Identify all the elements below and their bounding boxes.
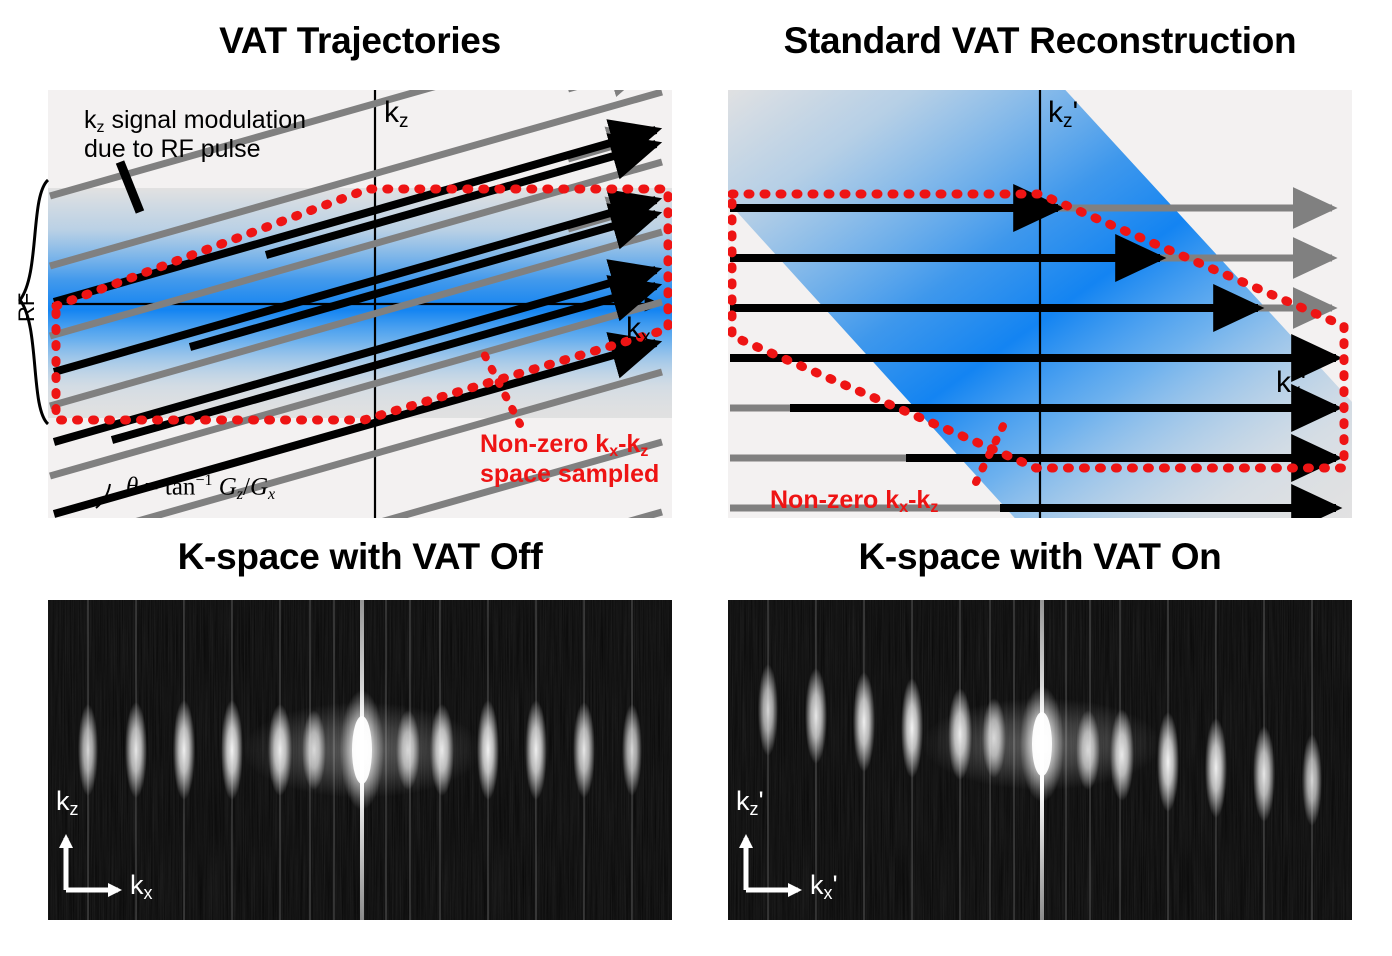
- kz-modulation-annotation: kz signal modulation due to RF pulse: [84, 106, 306, 164]
- kspace-vat-on-image: kz' kx': [728, 600, 1352, 920]
- panel-title-kspace-vat-on: K-space with VAT On: [728, 536, 1352, 578]
- kz-modulation-line2: due to RF pulse: [84, 135, 261, 163]
- panel-title-vat-trajectories: VAT Trajectories: [48, 20, 672, 62]
- theta-formula: θ = tan−1 Gz/Gx: [126, 472, 275, 501]
- rf-brace-label: RF: [14, 293, 40, 322]
- kspace-off-kz-label: kz: [56, 786, 79, 817]
- postshear-region-line1: Non-zero kx-kz: [770, 486, 938, 514]
- panel-title-kspace-vat-off: K-space with VAT Off: [48, 536, 672, 578]
- postshear-region-line2: space post-shear: [770, 516, 976, 519]
- kspace-vat-off-image: kz kx: [48, 600, 672, 920]
- kx-axis-label: kx: [626, 312, 651, 346]
- sampled-region-line1: Non-zero kx-kz: [480, 430, 648, 458]
- standard-vat-reconstruction-svg: [728, 90, 1352, 518]
- standard-vat-reconstruction-diagram: kz' kx' Non-zero kx-kz space post-shear: [728, 90, 1352, 518]
- vat-trajectories-diagram: kz signal modulation due to RF pulse kz …: [48, 90, 672, 518]
- kz-modulation-line1: kz signal modulation: [84, 106, 306, 134]
- kspace-off-kx-label: kx: [130, 870, 153, 901]
- postshear-region-annotation: Non-zero kx-kz space post-shear: [770, 486, 976, 518]
- sampled-region-annotation: Non-zero kx-kz space sampled: [480, 430, 659, 489]
- kspace-on-kz-label: kz': [736, 786, 764, 817]
- kspace-off-central-glow: [242, 702, 482, 798]
- kspace-on-central-glow: [922, 698, 1162, 790]
- kzprime-axis-label: kz': [1048, 96, 1078, 130]
- kz-axis-label: kz: [384, 96, 409, 130]
- kxprime-axis-label: kx': [1276, 366, 1306, 400]
- panel-title-standard-vat-reconstruction: Standard VAT Reconstruction: [728, 20, 1352, 62]
- kspace-on-kx-label: kx': [810, 870, 838, 901]
- sampled-region-line2: space sampled: [480, 460, 659, 488]
